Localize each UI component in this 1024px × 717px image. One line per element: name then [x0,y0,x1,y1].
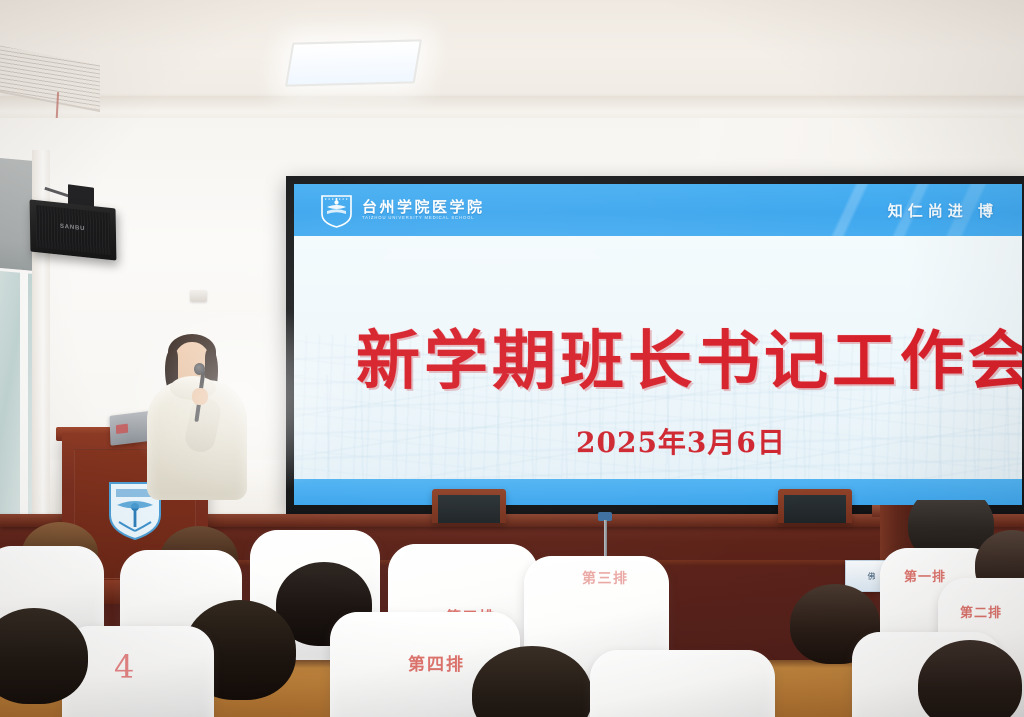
led-display-bezel: 台州学院医学院 TAIZHOU UNIVERSITY MEDICAL SCHOO… [286,176,1024,514]
slide-header-bar: 台州学院医学院 TAIZHOU UNIVERSITY MEDICAL SCHOO… [294,184,1022,236]
row-label: 第四排 [408,650,465,675]
slide-date: 2025年3月6日 [576,421,786,461]
row-label: 第三排 [582,568,629,588]
university-crest-icon [320,193,353,228]
ceiling-panel-light-icon [285,39,422,86]
university-name-cn: 台州学院医学院 [362,200,485,215]
window-frame [20,240,28,540]
chair-row4-c [590,650,775,717]
university-name-en: TAIZHOU UNIVERSITY MEDICAL SCHOOL [362,216,485,220]
presenter-hand [192,388,208,405]
university-motto: 知仁尚进 博 [888,200,998,221]
led-display-screen[interactable]: 台州学院医学院 TAIZHOU UNIVERSITY MEDICAL SCHOO… [294,184,1022,505]
row-label: 第二排 [960,602,1002,621]
presenter-person [144,336,250,518]
wall-speaker-icon: SANBU [30,199,117,260]
audience-area: 第一排 第二排 4 第三排 第三排 4 第四排 [0,500,1024,717]
conference-room-scene: SANBU [0,0,1024,717]
university-logo: 台州学院医学院 TAIZHOU UNIVERSITY MEDICAL SCHOO… [320,193,485,228]
slide-title: 新学期班长书记工作会 [356,310,1022,402]
university-name-block: 台州学院医学院 TAIZHOU UNIVERSITY MEDICAL SCHOO… [362,200,485,220]
laptop-screen-logo [116,424,128,434]
row-label: 第一排 [904,566,946,585]
seat-number: 4 [114,648,134,686]
wall-sensor-icon [190,290,207,302]
microphone-head [194,363,205,375]
slide-body: 新学期班长书记工作会 2025年3月6日 [294,236,1022,479]
